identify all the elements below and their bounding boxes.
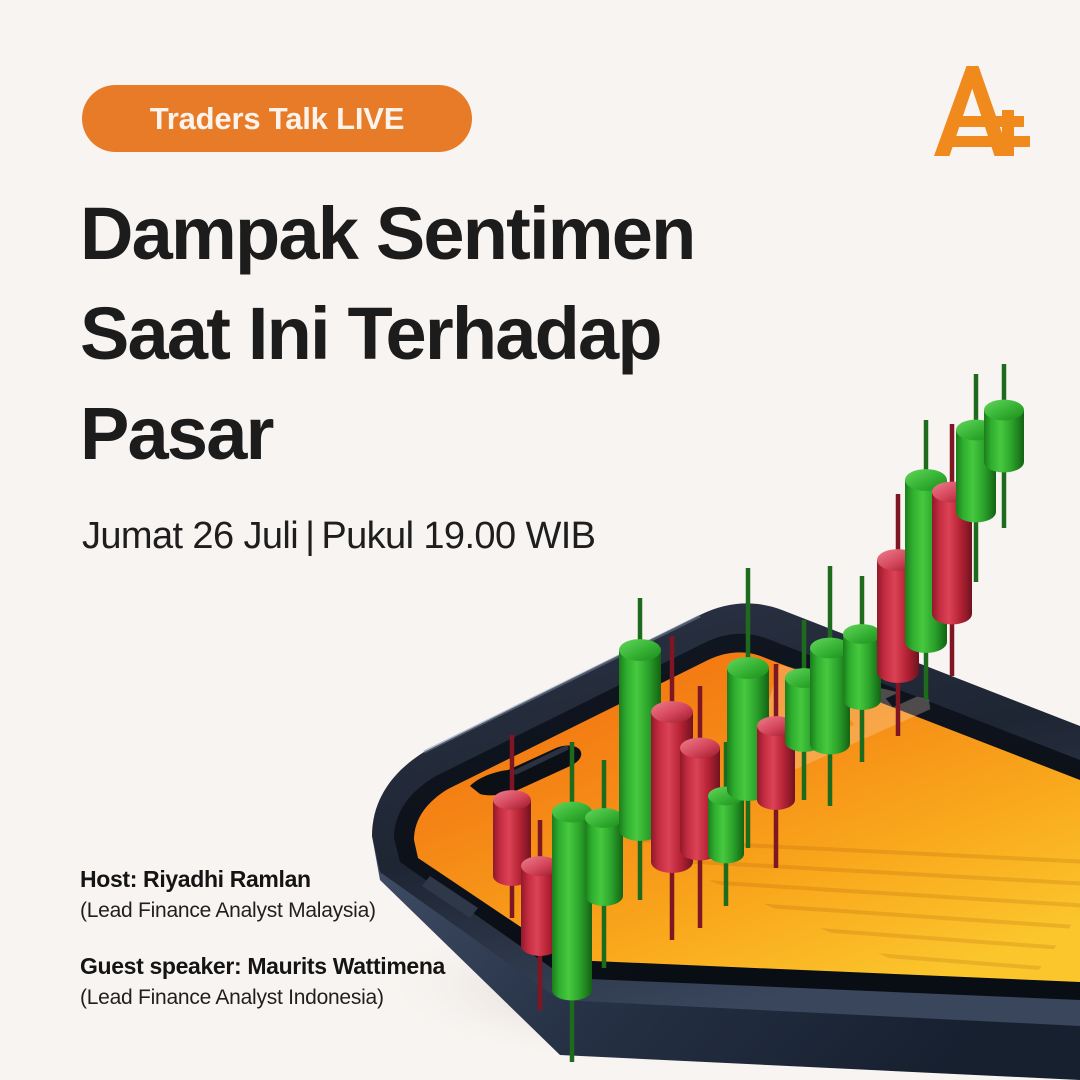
logo-svg [928, 60, 1034, 162]
guest-role: (Lead Finance Analyst Indonesia) [80, 986, 600, 1010]
guest-name: Guest speaker: Maurits Wattimena [80, 953, 600, 980]
live-badge[interactable]: Traders Talk LIVE [82, 85, 472, 152]
event-date: Jumat 26 Juli [82, 515, 298, 557]
promo-poster: Traders Talk LIVE Dampak Sentimen Saat I… [0, 0, 1080, 1080]
headline-line-1: Dampak Sentimen [80, 196, 800, 272]
credits-list: Host: Riyadhi Ramlan (Lead Finance Analy… [80, 866, 600, 1040]
headline-line-3: Pasar [80, 396, 800, 472]
schedule-separator: | [298, 515, 321, 558]
host-name: Host: Riyadhi Ramlan [80, 866, 600, 893]
poster-content: Traders Talk LIVE Dampak Sentimen Saat I… [0, 0, 1080, 1080]
ascendex-a-logo [928, 60, 1034, 162]
credit-guest: Guest speaker: Maurits Wattimena (Lead F… [80, 953, 600, 1010]
event-schedule: Jumat 26 Juli|Pukul 19.00 WIB [82, 515, 595, 558]
host-role: (Lead Finance Analyst Malaysia) [80, 899, 600, 923]
page-title: Dampak Sentimen Saat Ini Terhadap Pasar [80, 196, 800, 497]
credit-host: Host: Riyadhi Ramlan (Lead Finance Analy… [80, 866, 600, 923]
headline-line-2: Saat Ini Terhadap [80, 296, 800, 372]
event-time: Pukul 19.00 WIB [321, 515, 595, 557]
live-badge-label: Traders Talk LIVE [150, 101, 404, 137]
